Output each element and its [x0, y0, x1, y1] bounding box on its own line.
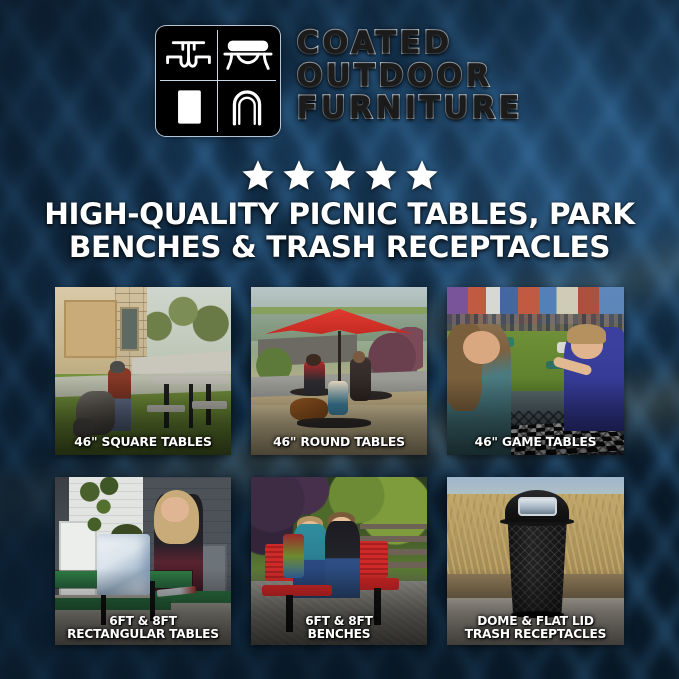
star-icon: [282, 158, 316, 192]
product-caption: 6FT & 8FT RECTANGULAR TABLES: [55, 615, 231, 641]
headline-line-2: BENCHES & TRASH RECEPTACLES: [26, 231, 653, 264]
headline-line-1: HIGH-QUALITY PICNIC TABLES, PARK: [26, 198, 653, 231]
star-icon: [323, 158, 357, 192]
brand-name-line-3: FURNITURE: [296, 93, 522, 125]
picnic-table-square-icon: [160, 30, 218, 81]
star-icon: [405, 158, 439, 192]
product-grid: 46" SQUARE TABLES: [55, 287, 627, 645]
brand-name-line-2: OUTDOOR: [296, 61, 522, 93]
product-caption: 46" ROUND TABLES: [251, 435, 427, 448]
logo-mark-icon-grid: [156, 26, 280, 136]
brand-name-line-1: COATED: [296, 28, 522, 60]
bench-icon: [218, 30, 276, 81]
star-icon: [241, 158, 275, 192]
product-caption: 6FT & 8FT BENCHES: [251, 615, 427, 641]
brand-logo: COATED OUTDOOR FURNITURE: [0, 26, 679, 136]
product-card-benches[interactable]: 6FT & 8FT BENCHES: [251, 477, 427, 645]
product-card-rectangular-tables[interactable]: 6FT & 8FT RECTANGULAR TABLES: [55, 477, 231, 645]
star-rating: [0, 158, 679, 192]
headline: HIGH-QUALITY PICNIC TABLES, PARK BENCHES…: [0, 198, 679, 263]
star-icon: [364, 158, 398, 192]
product-caption: DOME & FLAT LID TRASH RECEPTACLES: [447, 615, 624, 641]
product-card-round-tables[interactable]: 46" ROUND TABLES: [251, 287, 427, 455]
product-card-trash-receptacles[interactable]: DOME & FLAT LID TRASH RECEPTACLES: [447, 477, 624, 645]
product-photo-square-tables: [55, 287, 231, 455]
product-photo-game-tables: [447, 287, 624, 455]
product-caption: 46" SQUARE TABLES: [55, 435, 231, 448]
product-card-square-tables[interactable]: 46" SQUARE TABLES: [55, 287, 231, 455]
product-card-game-tables[interactable]: 46" GAME TABLES: [447, 287, 624, 455]
brand-wordmark: COATED OUTDOOR FURNITURE: [296, 26, 522, 125]
product-photo-round-tables: [251, 287, 427, 455]
trash-receptacle-dome-icon: [218, 81, 276, 132]
trash-receptacle-flat-icon: [160, 81, 218, 132]
product-caption: 46" GAME TABLES: [447, 435, 624, 448]
